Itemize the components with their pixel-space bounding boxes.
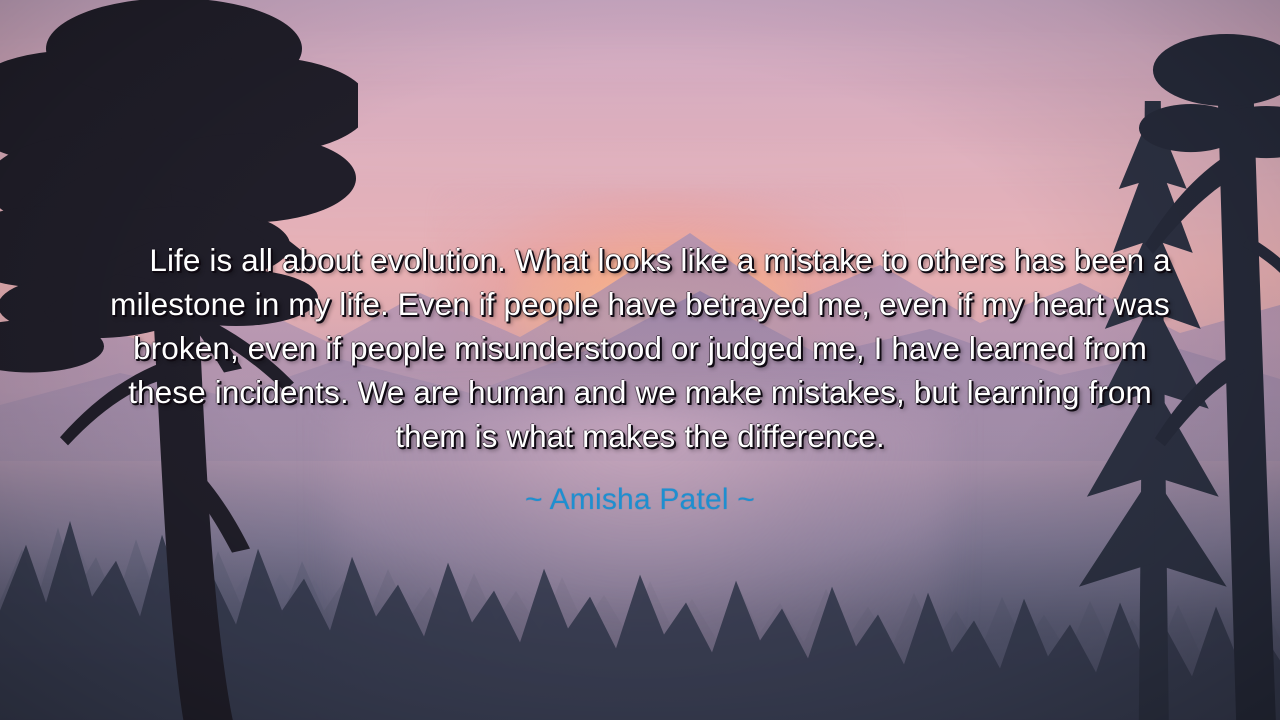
quote-text: Life is all about evolution. What looks …	[92, 238, 1188, 458]
quote-image-canvas: Life is all about evolution. What looks …	[0, 0, 1280, 720]
quote-overlay: Life is all about evolution. What looks …	[0, 0, 1280, 720]
quote-attribution: ~ Amisha Patel ~	[525, 458, 755, 520]
